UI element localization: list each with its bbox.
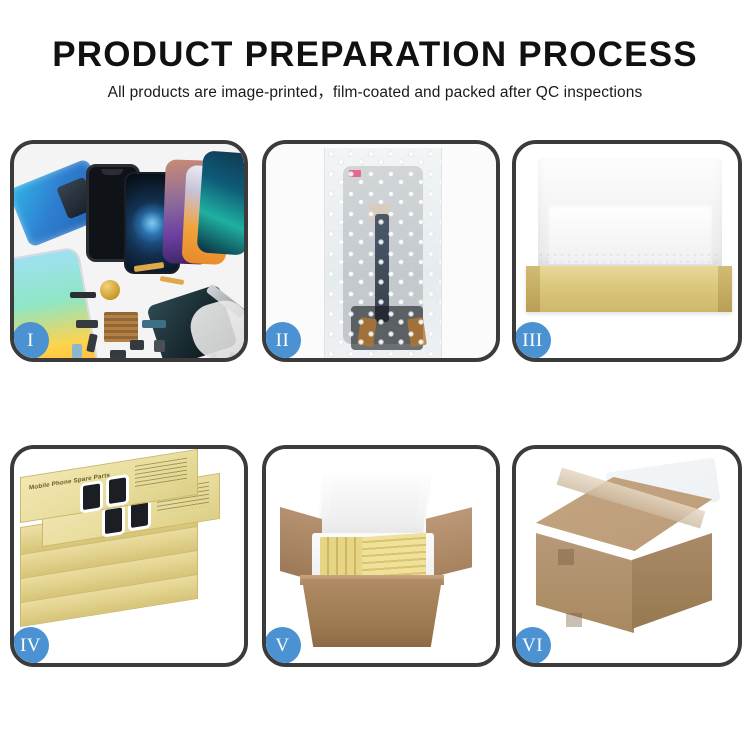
carton-body [302,579,442,647]
process-step-2: II [262,140,500,362]
small-part-1 [76,320,98,328]
step-badge-4: IV [12,627,49,664]
speaker-module-icon [100,280,120,300]
box-phone-graphic-1a [83,483,100,510]
box-phone-graphic-1b [109,477,126,504]
small-part-3 [142,320,166,328]
earpiece-part [70,292,96,298]
stacked-boxes-image: Mobile Phone Spare Parts Mobile Phone Sp… [14,449,244,663]
step-badge-1: I [12,322,49,359]
bubble-wrap-image [266,144,496,358]
process-step-4: Mobile Phone Spare Parts Mobile Phone Sp… [10,445,248,667]
parts-collage-image [14,144,244,358]
small-part-5 [154,340,165,352]
process-step-1: I [10,140,248,362]
box-phone-graphic-2a [105,507,122,534]
poster-root: PRODUCT PREPARATION PROCESS All products… [0,0,750,750]
small-part-4 [130,340,144,350]
box-left-edge [526,266,540,312]
step-badge-3: III [514,322,551,359]
process-step-3: III [512,140,742,362]
box-phone-graphic-2b [131,501,148,528]
yellow-box-base [526,266,732,312]
step-badge-5: V [264,627,301,664]
foam-box-lid [318,471,429,539]
step-badge-2: II [264,322,301,359]
carton-hand-hole-top [558,549,574,565]
carton-hand-hole-bottom [566,613,582,627]
small-part-7 [110,350,126,358]
chipset-grid-part [104,312,138,342]
box-right-edge [718,266,732,312]
open-carton-image [266,449,496,663]
bubble-wrap-bag [324,148,442,358]
step-badge-6: VI [514,627,551,664]
sealed-carton-image [516,449,738,663]
process-step-5: V [262,445,500,667]
teal-phone-screen [197,150,244,255]
process-grid: I II [0,0,750,750]
bubble-texture [325,148,441,358]
box-spec-lines-1 [135,458,187,490]
inner-box-image [516,144,738,358]
process-step-6: VI [512,445,742,667]
small-part-6 [72,344,82,358]
